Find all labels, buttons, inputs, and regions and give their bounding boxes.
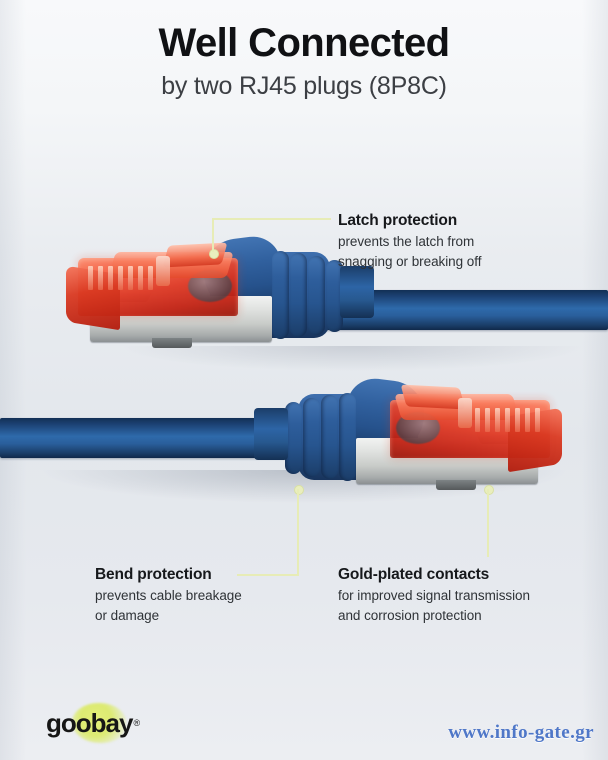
right-edge-vignette: [582, 0, 608, 760]
gold-contact: [148, 266, 153, 290]
header: Well Connected by two RJ45 plugs (8P8C): [0, 22, 608, 101]
gold-contact: [138, 266, 143, 290]
callout-latch-protection: Latch protection prevents the latch from…: [338, 211, 588, 271]
leader-line-latch-vertical: [212, 219, 214, 252]
gold-contact: [525, 408, 530, 432]
gold-contact: [495, 408, 500, 432]
gold-contact: [485, 408, 490, 432]
callout-body: for improved signal transmission and cor…: [338, 586, 588, 624]
callout-title: Gold-plated contacts: [338, 565, 588, 584]
page-title: Well Connected: [0, 22, 608, 65]
site-watermark: www.info-gate.gr: [448, 722, 594, 744]
callout-bend-protection: Bend protection prevents cable breakage …: [95, 565, 305, 625]
rj45-plug-lower: [268, 372, 568, 500]
gold-contact: [128, 266, 133, 290]
callout-body-line2: and corrosion protection: [338, 608, 482, 623]
callout-body-line2: snagging or breaking off: [338, 254, 481, 269]
logo-wordmark: goobay: [46, 708, 132, 739]
callout-title: Latch protection: [338, 211, 588, 230]
leader-line-contacts-vertical: [487, 489, 489, 557]
gold-contact: [88, 266, 93, 290]
callout-body-line1: prevents the latch from: [338, 234, 474, 249]
leader-line-latch-horizontal: [212, 218, 331, 220]
left-edge-vignette: [0, 0, 26, 760]
gold-contact: [535, 408, 540, 432]
goobay-logo: goobay ®: [46, 706, 140, 740]
registered-trademark-icon: ®: [133, 718, 140, 728]
leader-dot-bend: [294, 485, 304, 495]
gold-contact: [98, 266, 103, 290]
page-subtitle: by two RJ45 plugs (8P8C): [0, 72, 608, 101]
shield-tab-upper: [152, 338, 192, 348]
callout-body: prevents the latch from snagging or brea…: [338, 232, 588, 270]
callout-body-line2: or damage: [95, 608, 159, 623]
leader-dot-contacts: [484, 485, 494, 495]
shield-tab-lower: [436, 480, 476, 490]
callout-title: Bend protection: [95, 565, 305, 584]
callout-body-line1: prevents cable breakage: [95, 588, 242, 603]
gold-contact: [108, 266, 113, 290]
latch-lower: [401, 384, 466, 409]
gold-contact: [515, 408, 520, 432]
latch-notch-lower: [458, 398, 472, 428]
infographic-canvas: Well Connected by two RJ45 plugs (8P8C): [0, 0, 608, 760]
gold-contact: [118, 266, 123, 290]
callout-body-line1: for improved signal transmission: [338, 588, 530, 603]
leader-dot-latch: [209, 249, 219, 259]
latch-notch-upper: [156, 256, 170, 286]
leader-line-bend-vertical: [297, 489, 299, 575]
gold-contact: [475, 408, 480, 432]
gold-contact: [505, 408, 510, 432]
callout-body: prevents cable breakage or damage: [95, 586, 305, 624]
callout-gold-plated-contacts: Gold-plated contacts for improved signal…: [338, 565, 588, 625]
